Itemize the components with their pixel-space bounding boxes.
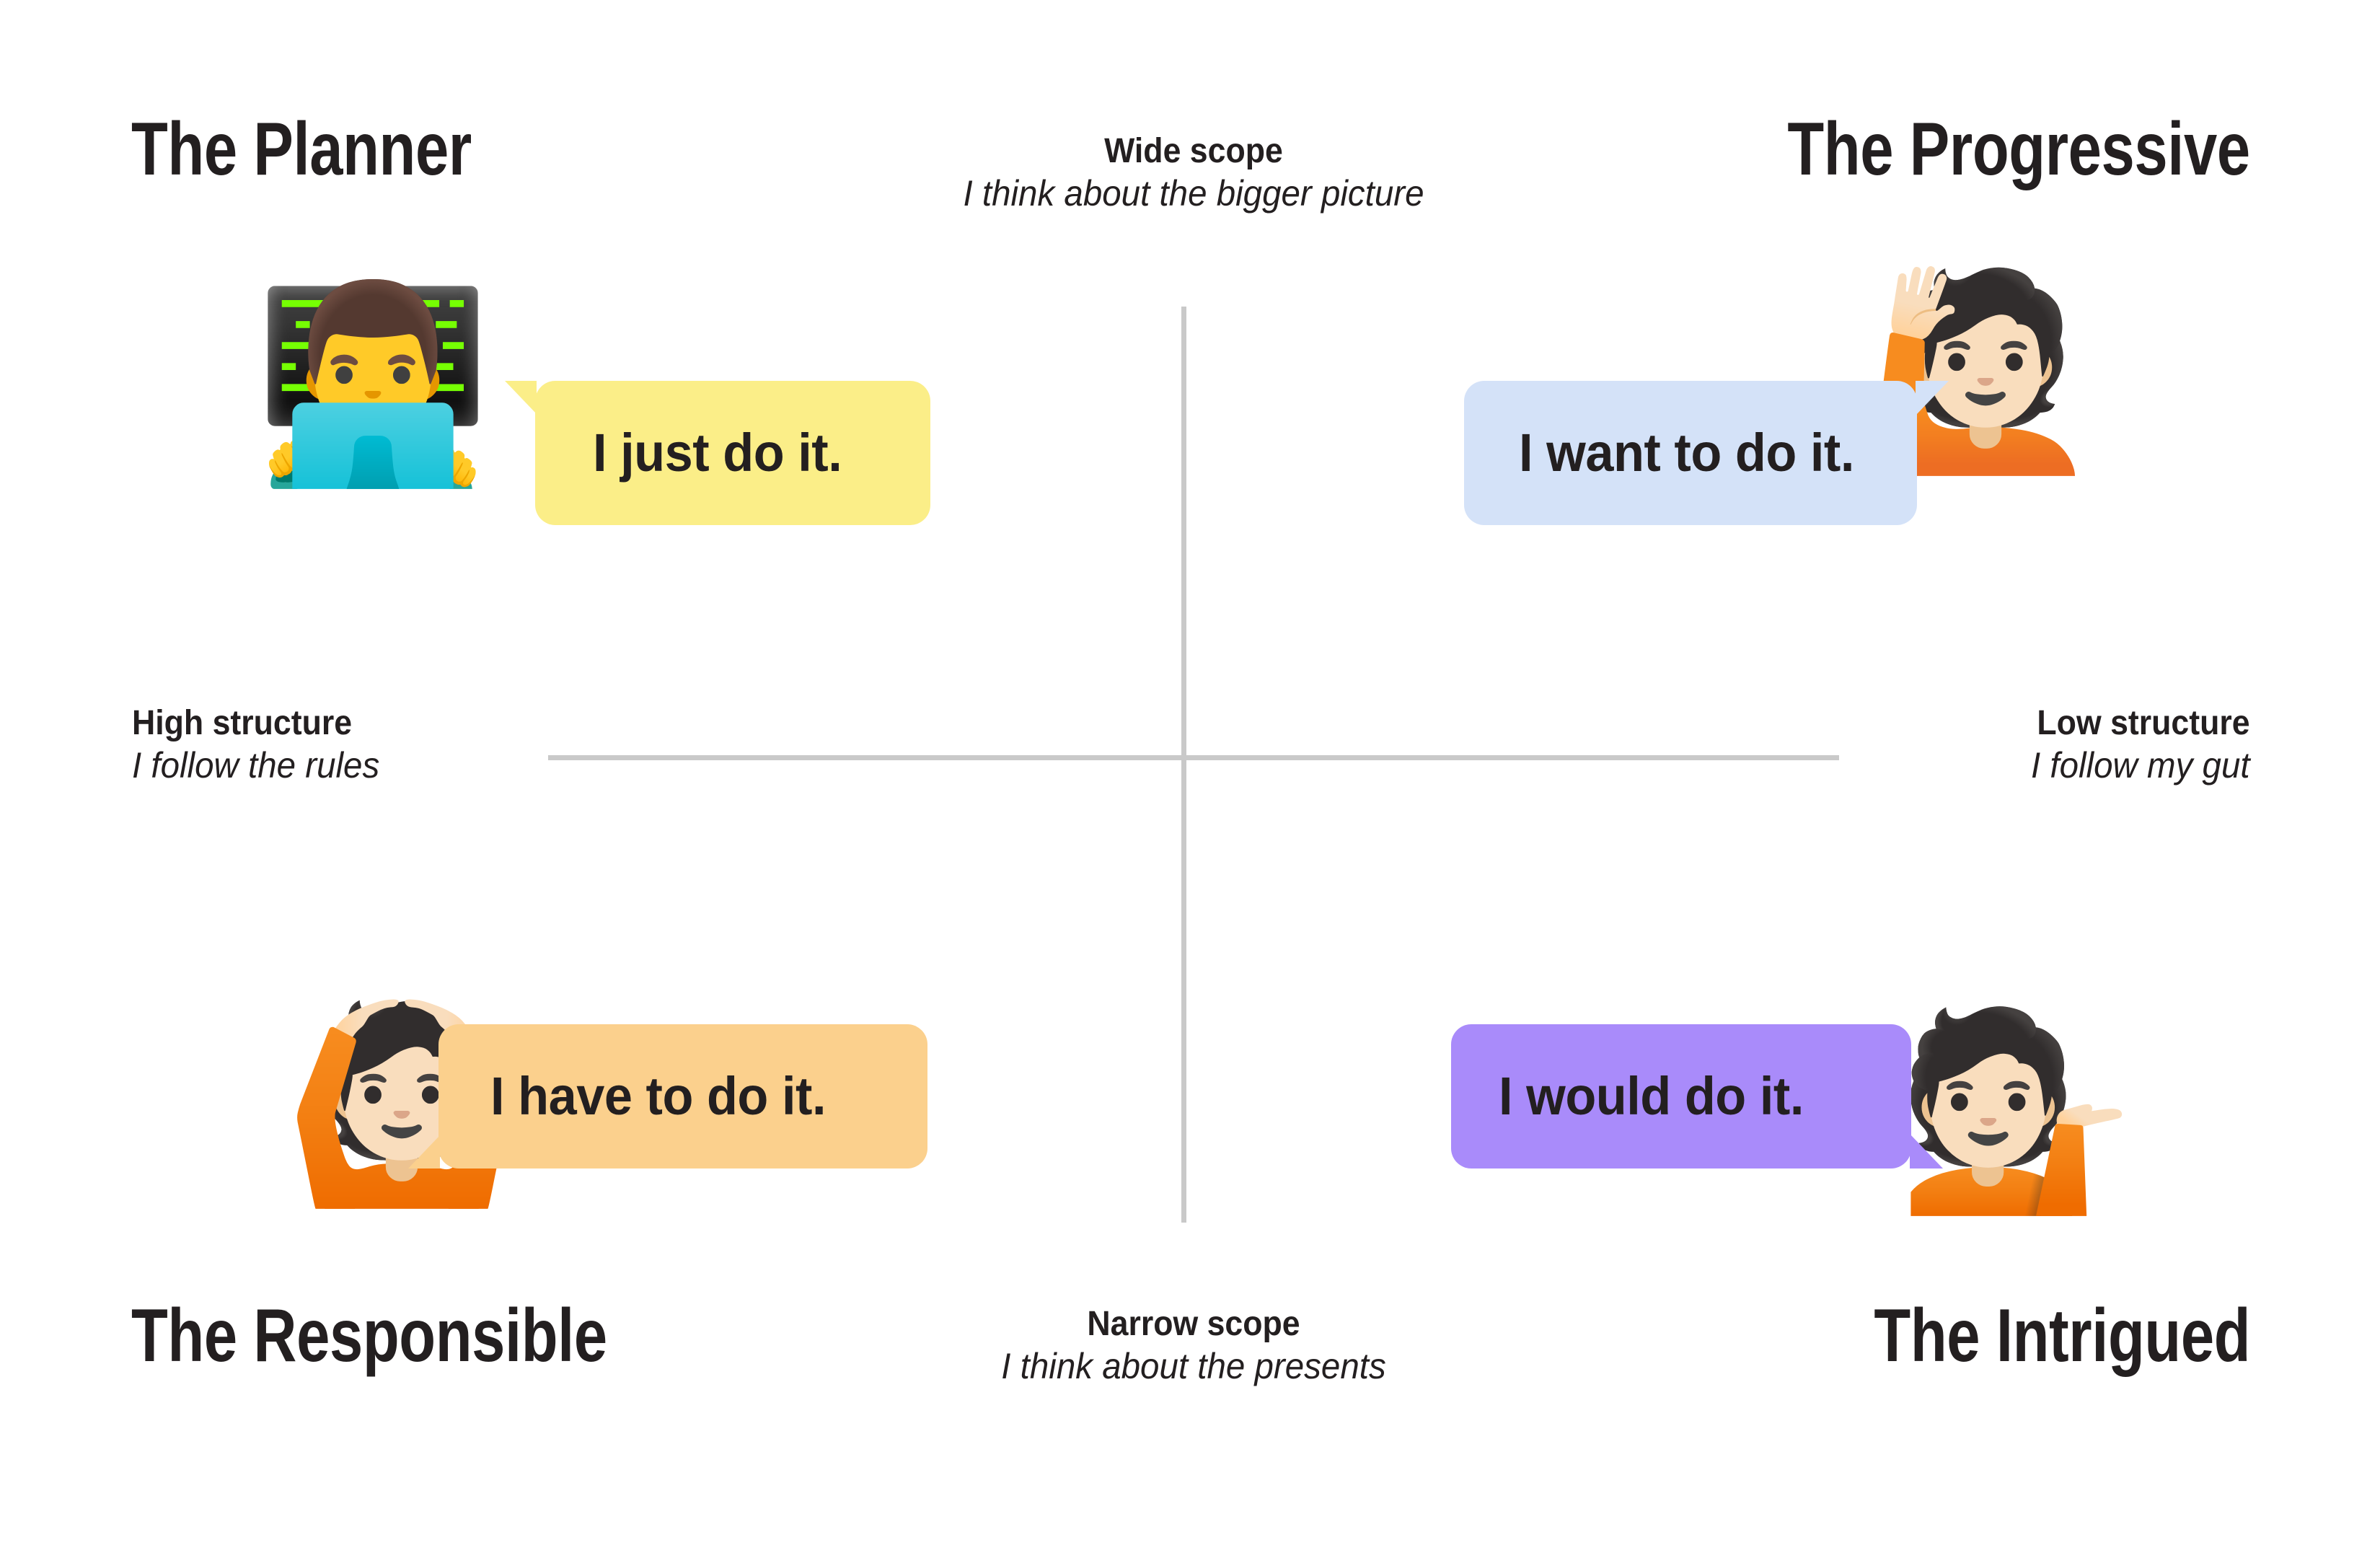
speech-bubble-responsible: I have to do it. xyxy=(438,1024,927,1168)
axis-label-wide-scope: Wide scope I think about the bigger pict… xyxy=(876,131,1511,216)
horizontal-axis-line xyxy=(548,755,1839,760)
speech-bubble-intrigued: I would do it. xyxy=(1451,1024,1911,1168)
axis-label-high-structure-subtitle: I follow the rules xyxy=(132,744,379,788)
quadrant-title-progressive: The Progressive xyxy=(1788,112,2250,187)
speech-bubble-tail xyxy=(505,381,537,414)
quadrant-diagram: The Planner The Progressive The Responsi… xyxy=(0,0,2380,1558)
speech-bubble-tail xyxy=(408,1135,440,1168)
axis-label-narrow-scope: Narrow scope I think about the presents xyxy=(876,1304,1511,1388)
axis-label-wide-scope-subtitle: I think about the bigger picture xyxy=(892,172,1495,216)
quadrant-title-responsible: The Responsible xyxy=(131,1298,607,1373)
speech-bubble-planner: I just do it. xyxy=(535,381,930,525)
speech-bubble-responsible-text: I have to do it. xyxy=(490,1070,826,1123)
quadrant-title-intrigued: The Intrigued xyxy=(1874,1298,2250,1373)
speech-bubble-tail xyxy=(1910,1134,1943,1168)
axis-label-high-structure: High structure I follow the rules xyxy=(132,703,392,788)
vertical-axis-line xyxy=(1181,307,1186,1223)
speech-bubble-progressive: I want to do it. xyxy=(1464,381,1917,525)
axis-label-high-structure-title: High structure xyxy=(132,703,374,744)
axis-label-low-structure-subtitle: I follow my gut xyxy=(2031,744,2250,788)
speech-bubble-intrigued-text: I would do it. xyxy=(1499,1070,1804,1123)
speech-bubble-planner-text: I just do it. xyxy=(593,426,842,480)
axis-label-wide-scope-title: Wide scope xyxy=(899,131,1489,172)
axis-label-narrow-scope-subtitle: I think about the presents xyxy=(892,1344,1495,1388)
speech-bubble-progressive-text: I want to do it. xyxy=(1519,426,1854,480)
quadrant-title-planner: The Planner xyxy=(131,112,472,187)
axis-label-low-structure-title: Low structure xyxy=(2036,703,2250,744)
axis-label-low-structure: Low structure I follow my gut xyxy=(2019,703,2250,788)
speech-bubble-tail xyxy=(1916,381,1949,415)
person-tipping-hand-icon: 💁🏻 xyxy=(1897,1016,2135,1207)
axis-label-narrow-scope-title: Narrow scope xyxy=(899,1304,1489,1344)
technologist-icon: 👨‍💻 xyxy=(254,289,492,480)
